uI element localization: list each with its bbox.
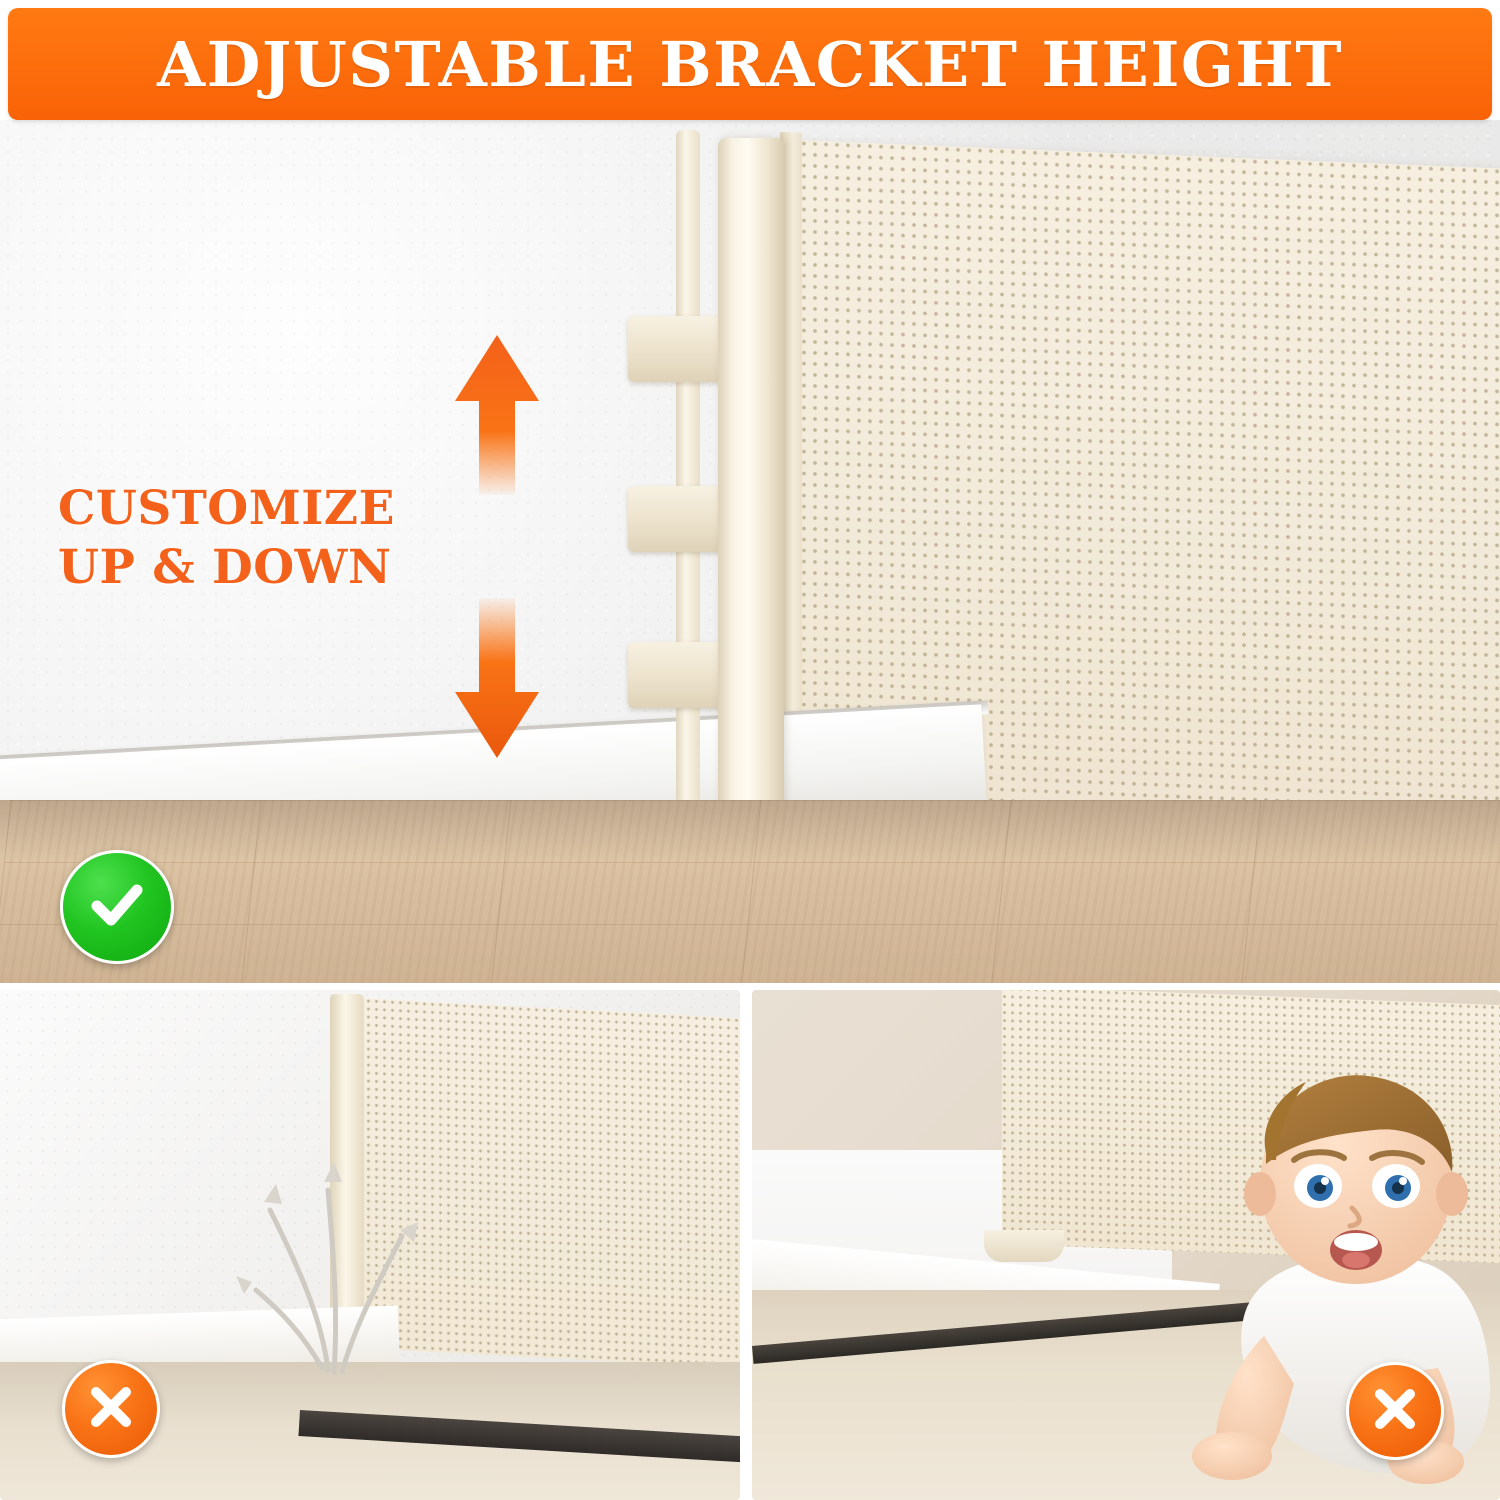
customize-callout-line1: CUSTOMIZE bbox=[58, 480, 438, 539]
check-icon bbox=[85, 873, 149, 942]
arrow-down-icon bbox=[455, 598, 539, 763]
check-badge bbox=[60, 850, 174, 964]
x-badge bbox=[62, 1360, 160, 1458]
bracket-bottom bbox=[628, 642, 728, 708]
product-infographic: ADJUSTABLE BRACKET HEIGHT bbox=[0, 0, 1500, 1500]
gap-under-gate-panel bbox=[752, 990, 1500, 1500]
floor-shadow bbox=[0, 800, 1500, 860]
customize-callout-line2: UP & DOWN bbox=[58, 539, 438, 598]
x-icon bbox=[1368, 1382, 1422, 1441]
vertical-divider bbox=[740, 990, 752, 1500]
customize-callout: CUSTOMIZE UP & DOWN bbox=[58, 480, 438, 598]
hero-scene: CUSTOMIZE UP & DOWN bbox=[0, 120, 1500, 985]
x-icon bbox=[84, 1380, 138, 1439]
gate-foot bbox=[984, 1230, 1064, 1262]
x-badge bbox=[1346, 1362, 1444, 1460]
arrow-up-icon bbox=[455, 335, 539, 500]
page-title: ADJUSTABLE BRACKET HEIGHT bbox=[157, 28, 1343, 101]
header-banner: ADJUSTABLE BRACKET HEIGHT bbox=[8, 8, 1492, 120]
adjustable-post bbox=[718, 138, 784, 858]
crawling-baby bbox=[1160, 1068, 1500, 1500]
bracket-middle bbox=[628, 486, 728, 552]
bracket-top bbox=[628, 316, 728, 382]
adjustable-inner-rod bbox=[676, 130, 700, 840]
damaged-baseboard-panel bbox=[0, 990, 740, 1500]
paint-damage-icon bbox=[230, 1140, 400, 1370]
